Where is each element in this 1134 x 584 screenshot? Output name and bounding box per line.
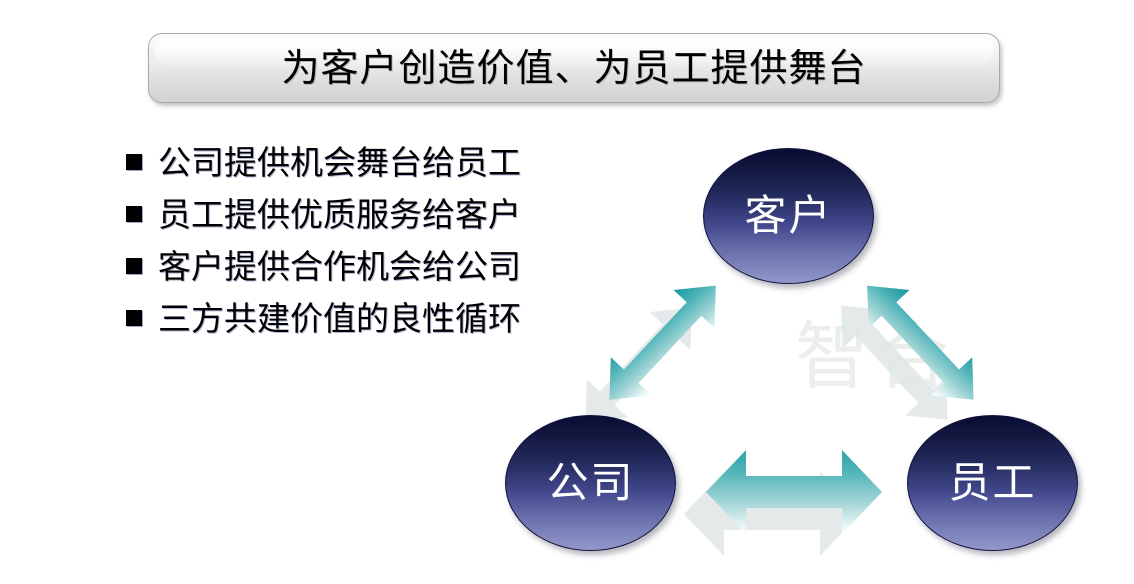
square-bullet-icon: [126, 154, 142, 170]
node-customer[interactable]: 客户: [703, 148, 874, 284]
node-employee[interactable]: 员工: [907, 415, 1078, 551]
list-item-label: 客户提供合作机会给公司: [158, 250, 521, 283]
list-item-label: 公司提供机会舞台给员工: [158, 146, 521, 179]
square-bullet-icon: [126, 258, 142, 274]
slide-canvas: 为客户创造价值、为员工提供舞台 公司提供机会舞台给员工 员工提供优质服务给客户 …: [0, 0, 1134, 584]
node-company-label: 公司: [546, 462, 634, 504]
cycle-diagram: 智合: [470, 130, 1110, 580]
title-banner: 为客户创造价值、为员工提供舞台: [148, 33, 1000, 103]
double-arrow-horizontal-icon: [692, 430, 902, 560]
list-item-label: 员工提供优质服务给客户: [158, 198, 521, 231]
node-company[interactable]: 公司: [505, 415, 676, 551]
node-customer-label: 客户: [744, 195, 832, 237]
arrow-company-employee: [692, 430, 902, 560]
page-title: 为客户创造价值、为员工提供舞台: [149, 34, 999, 102]
node-employee-label: 员工: [948, 462, 1036, 504]
square-bullet-icon: [126, 206, 142, 222]
list-item-label: 三方共建价值的良性循环: [158, 302, 521, 335]
square-bullet-icon: [126, 310, 142, 326]
